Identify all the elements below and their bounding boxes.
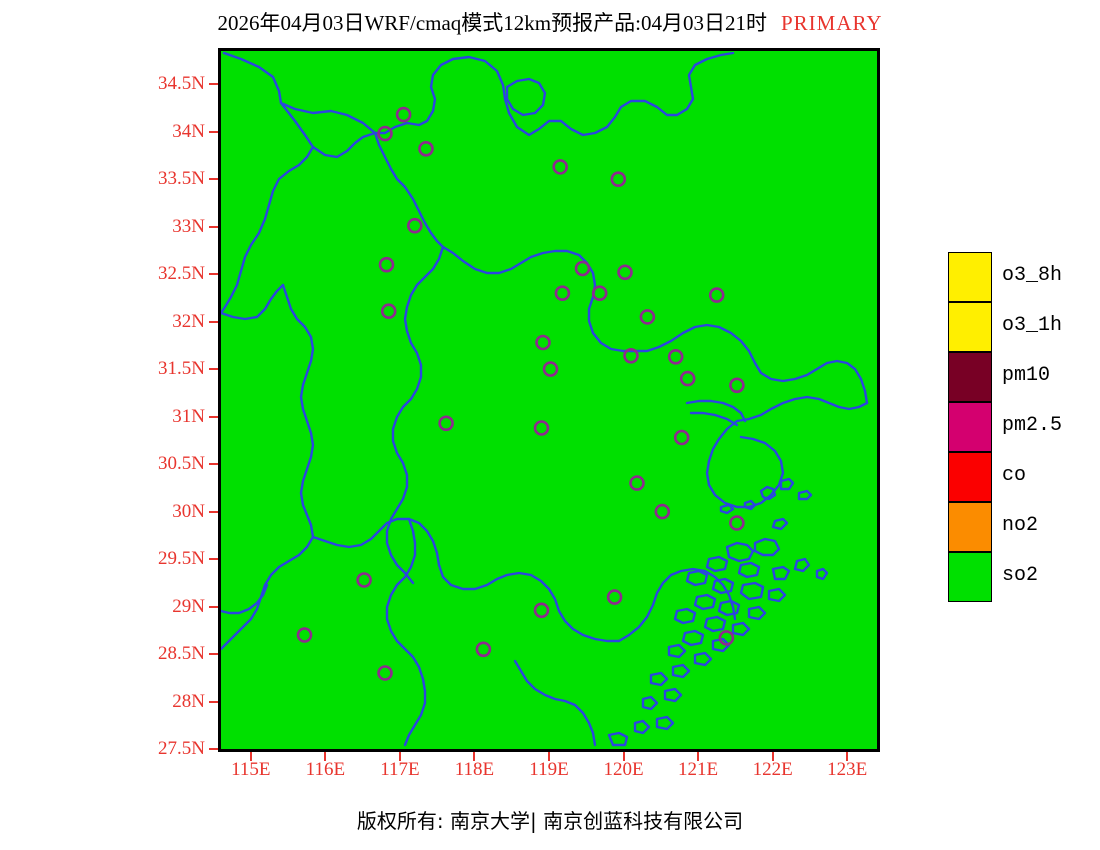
x-axis-tick-mark: [399, 752, 401, 761]
y-axis-tick-label: 31N: [80, 407, 205, 426]
legend-item-no2[interactable]: no2: [948, 502, 1098, 552]
legend-item-label: so2: [1002, 565, 1038, 587]
x-axis-tick-mark: [473, 752, 475, 761]
y-axis-tick-mark: [209, 701, 218, 703]
x-axis-tick-label: 122E: [733, 760, 813, 779]
y-axis-tick-label: 34.5N: [80, 74, 205, 93]
legend-item-label: pm2.5: [1002, 415, 1062, 437]
y-axis-tick-mark: [209, 131, 218, 133]
y-axis-tick-mark: [209, 83, 218, 85]
y-axis-tick-mark: [209, 558, 218, 560]
x-axis-tick-mark: [250, 752, 252, 761]
y-axis-tick-label: 33N: [80, 217, 205, 236]
x-axis-tick-mark: [772, 752, 774, 761]
x-axis-tick-mark: [697, 752, 699, 761]
legend-color-swatch: [948, 302, 992, 352]
legend-color-swatch: [948, 252, 992, 302]
y-axis-tick-label: 32N: [80, 312, 205, 331]
map-vector-layer: [221, 51, 877, 749]
legend-item-label: no2: [1002, 515, 1038, 537]
y-axis-tick-label: 29.5N: [80, 549, 205, 568]
y-axis-tick-label: 29N: [80, 597, 205, 616]
legend-item-pm10[interactable]: pm10: [948, 352, 1098, 402]
x-axis-tick-label: 119E: [509, 760, 589, 779]
y-axis-tick-mark: [209, 226, 218, 228]
legend-item-o3-8h[interactable]: o3_8h: [948, 252, 1098, 302]
land-fill-so2: [221, 51, 877, 749]
legend-item-label: o3_1h: [1002, 315, 1062, 337]
y-axis-tick-mark: [209, 178, 218, 180]
copyright-footer: 版权所有: 南京大学| 南京创蓝科技有限公司: [0, 808, 1100, 834]
x-axis-tick-label: 118E: [434, 760, 514, 779]
y-axis-tick-mark: [209, 463, 218, 465]
x-axis-tick-mark: [548, 752, 550, 761]
y-axis-tick-label: 34N: [80, 122, 205, 141]
y-axis-tick-mark: [209, 368, 218, 370]
map-plot-area[interactable]: [218, 48, 880, 752]
y-axis-tick-mark: [209, 416, 218, 418]
y-axis-tick-label: 27.5N: [80, 739, 205, 758]
y-axis-tick-mark: [209, 273, 218, 275]
title-primary-label: PRIMARY: [781, 11, 883, 35]
y-axis-tick-label: 33.5N: [80, 169, 205, 188]
x-axis-tick-label: 120E: [584, 760, 664, 779]
legend[interactable]: o3_8ho3_1hpm10pm2.5cono2so2: [948, 252, 1098, 602]
chart-title: 2026年04月03日WRF/cmaq模式12km预报产品:04月03日21时P…: [0, 10, 1100, 36]
legend-color-swatch: [948, 502, 992, 552]
x-axis-tick-label: 123E: [807, 760, 887, 779]
y-axis-tick-label: 28N: [80, 692, 205, 711]
legend-item-label: pm10: [1002, 365, 1050, 387]
legend-item-co[interactable]: co: [948, 452, 1098, 502]
legend-color-swatch: [948, 402, 992, 452]
y-axis-tick-label: 30N: [80, 502, 205, 521]
legend-item-label: o3_8h: [1002, 265, 1062, 287]
legend-color-swatch: [948, 352, 992, 402]
x-axis-tick-label: 116E: [285, 760, 365, 779]
legend-item-so2[interactable]: so2: [948, 552, 1098, 602]
y-axis-tick-label: 28.5N: [80, 644, 205, 663]
y-axis-tick-mark: [209, 321, 218, 323]
y-axis-tick-label: 30.5N: [80, 454, 205, 473]
x-axis-tick-label: 117E: [360, 760, 440, 779]
legend-item-pm2-5[interactable]: pm2.5: [948, 402, 1098, 452]
x-axis-tick-label: 115E: [211, 760, 291, 779]
legend-item-label: co: [1002, 465, 1026, 487]
x-axis-tick-mark: [623, 752, 625, 761]
x-axis-tick-mark: [846, 752, 848, 761]
x-axis-tick-label: 121E: [658, 760, 738, 779]
y-axis-tick-label: 32.5N: [80, 264, 205, 283]
title-main-text: 2026年04月03日WRF/cmaq模式12km预报产品:04月03日21时: [217, 11, 767, 35]
y-axis-tick-mark: [209, 511, 218, 513]
legend-item-o3-1h[interactable]: o3_1h: [948, 302, 1098, 352]
legend-color-swatch: [948, 552, 992, 602]
y-axis-tick-mark: [209, 606, 218, 608]
y-axis-tick-mark: [209, 653, 218, 655]
y-axis-tick-label: 31.5N: [80, 359, 205, 378]
y-axis-tick-mark: [209, 748, 218, 750]
x-axis-tick-mark: [324, 752, 326, 761]
legend-color-swatch: [948, 452, 992, 502]
